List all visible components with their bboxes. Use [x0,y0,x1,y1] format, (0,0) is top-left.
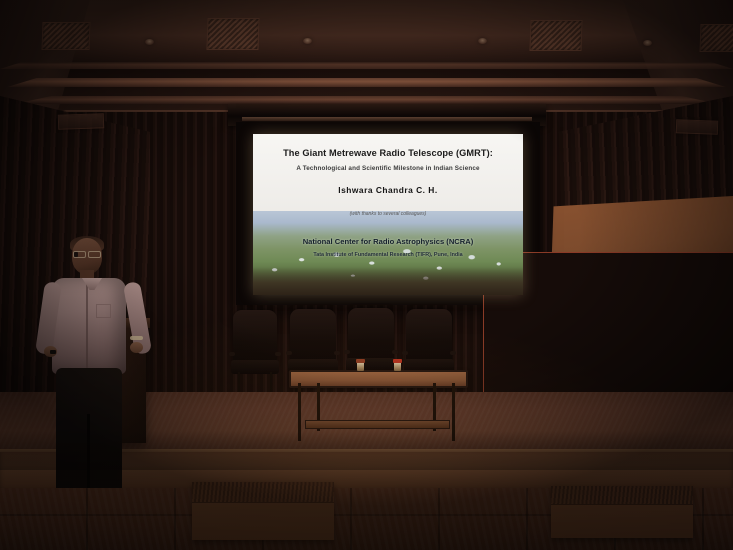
speaker-trousers [56,368,122,496]
ceiling-downlight [145,39,154,45]
lecture-hall-photograph: The Giant Metrewave Radio Telescope (GMR… [0,0,733,550]
drinking-glass [394,362,401,371]
chair-back [233,310,277,364]
glass-lid [356,359,365,363]
chair-back [290,309,336,363]
shirt-collar [82,278,102,290]
ceiling-air-diffuser [700,24,733,52]
chair-back [406,309,452,363]
drinking-glass [357,362,364,371]
chair-leg [238,372,240,394]
step-block-top [551,486,693,505]
wall-plaque [676,119,718,134]
slide-title: The Giant Metrewave Radio Telescope (GMR… [253,148,523,158]
ceiling-beam [0,78,733,87]
slide-author: Ishwara Chandra C. H. [253,185,523,195]
ceiling-downlight [643,40,652,46]
ceiling-air-diffuser [42,22,91,50]
shirt-pocket [96,304,111,318]
ceiling-downlight [303,38,312,44]
step-block [551,486,693,538]
chair-armrest [450,351,456,355]
wristwatch [130,336,143,340]
speaker-shirt [52,278,126,374]
ceiling [0,0,733,118]
chair-back [348,308,394,362]
step-block [192,482,334,540]
chair-armrest [275,352,281,356]
chair [233,310,277,394]
ceiling-air-diffuser [529,20,582,51]
glass-lid [393,359,402,363]
speaker-hand-right [130,342,143,353]
ceiling-air-diffuser [206,18,259,50]
ceiling-beam [0,96,733,104]
chair-armrest [286,351,292,355]
step-block-top [192,482,334,503]
ceiling-beam [0,62,733,69]
table-lower-shelf [305,420,450,429]
chair-armrest [344,350,350,354]
speaker [38,238,148,530]
slide-organization-sub: Tata Institute of Fundamental Research (… [253,252,523,258]
chair-leg [270,372,272,394]
table-leg [298,383,301,441]
chair-armrest [229,352,235,356]
coffee-table [289,370,464,442]
slide-text-block: The Giant Metrewave Radio Telescope (GMR… [253,134,523,295]
lapel-microphone-icon [74,252,78,257]
chair-armrest [392,350,398,354]
slide-subtitle: A Technological and Scientific Milestone… [253,165,523,172]
slide-organization: National Center for Radio Astrophysics (… [253,237,523,246]
table-leg [452,383,455,441]
presentation-clicker [50,350,56,354]
slide-acknowledgement: (with thanks to several colleagues) [253,211,523,217]
chair-armrest [402,351,408,355]
presentation-slide: The Giant Metrewave Radio Telescope (GMR… [253,134,523,295]
ceiling-downlight [478,38,487,44]
chair-armrest [334,351,340,355]
table-top [289,370,468,388]
wall-plaque [58,113,104,130]
